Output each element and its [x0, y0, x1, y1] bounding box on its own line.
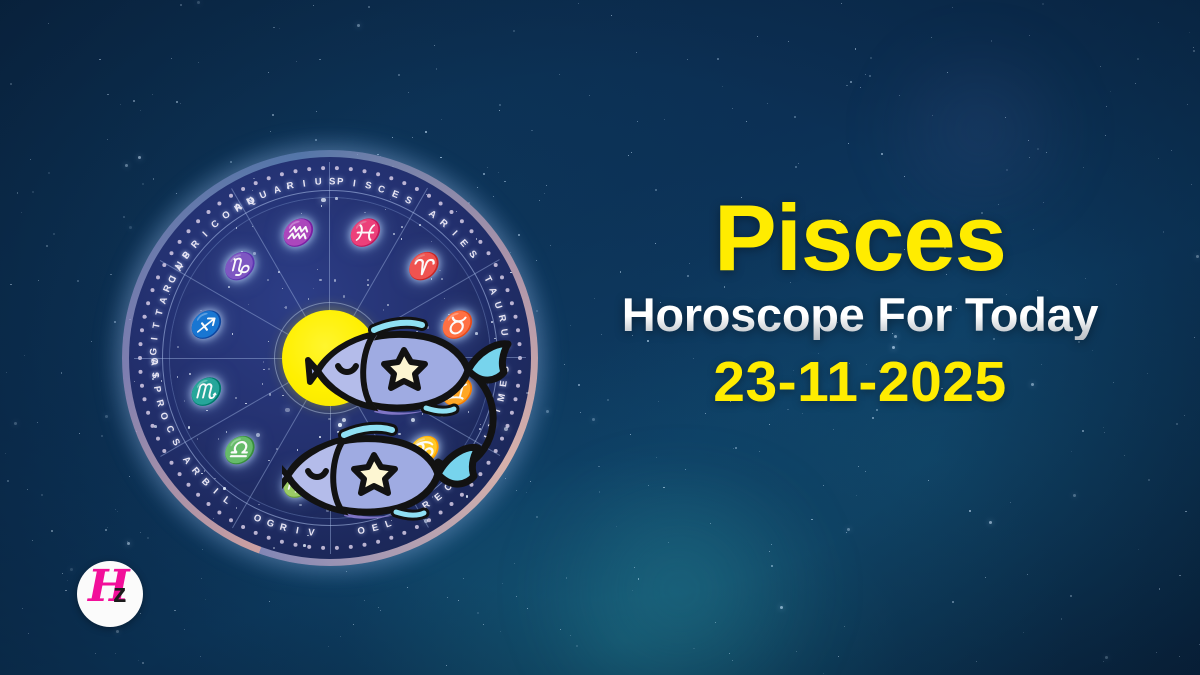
wheel-sign-glyph-aquarius: ♒	[280, 219, 312, 245]
fish-upper	[308, 323, 508, 415]
logo-letter-z: z	[113, 580, 127, 607]
wheel-sign-glyph-aries: ♈	[406, 253, 438, 279]
date-label: 23-11-2025	[560, 354, 1160, 411]
horoscope-banner: PISCESARIESTAURUSGEMINICANCERLEOVIRGOLIB…	[0, 0, 1200, 675]
pisces-fish-icon	[282, 308, 512, 533]
fish-lower	[282, 428, 478, 519]
subtitle: Horoscope For Today	[560, 290, 1160, 340]
headline-block: Pisces Horoscope For Today 23-11-2025	[560, 192, 1160, 411]
hz-logo[interactable]: H z	[77, 561, 143, 627]
wheel-sign-glyph-pisces: ♓	[347, 219, 379, 245]
wheel-sign-glyph-capricorn: ♑	[222, 253, 254, 279]
zodiac-wheel: PISCESARIESTAURUSGEMINICANCERLEOVIRGOLIB…	[122, 150, 538, 566]
wheel-sign-glyph-sagittarius: ♐	[188, 311, 220, 337]
wheel-sign-glyph-scorpio: ♏	[188, 379, 220, 405]
page-title: Pisces	[560, 192, 1160, 284]
wheel-sign-glyph-libra: ♎	[222, 437, 254, 463]
